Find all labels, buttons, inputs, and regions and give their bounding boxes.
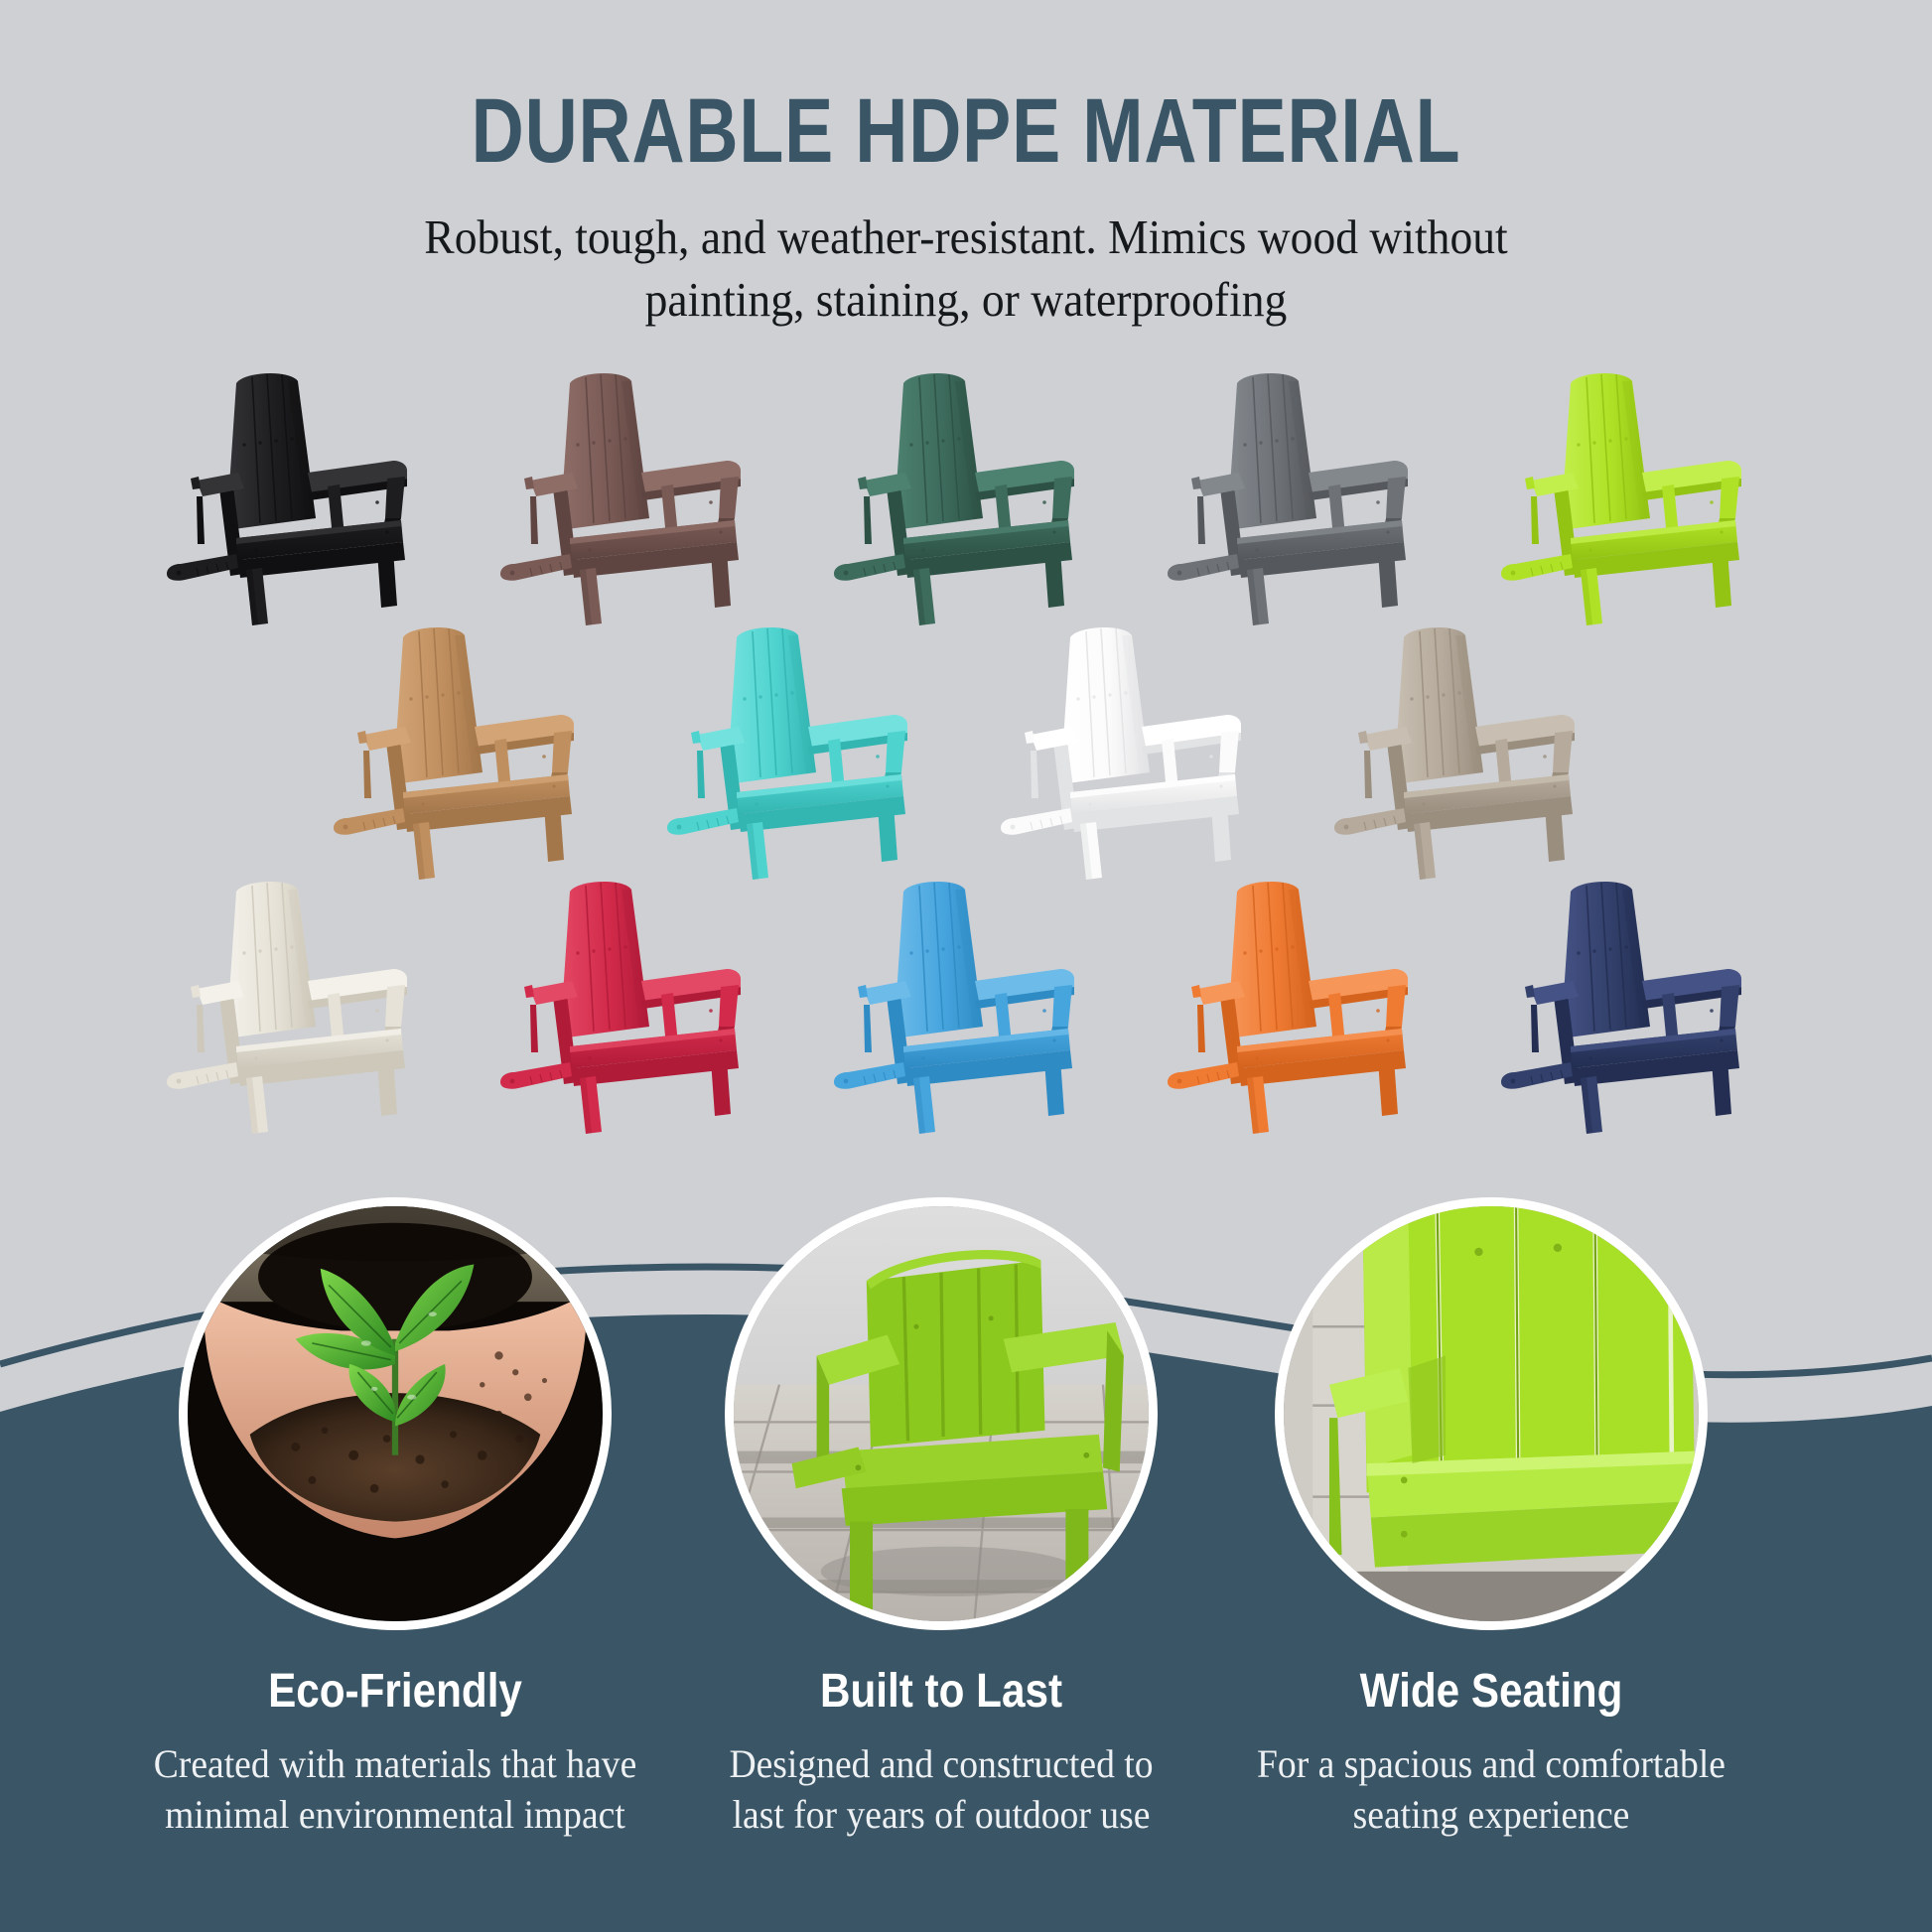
subtitle-line-1: Robust, tough, and weather-resistant. Mi… [320, 207, 1612, 269]
chair-swatch-gray[interactable] [1142, 369, 1457, 629]
chair-front-bracket-black [167, 554, 238, 581]
page-subtitle: Robust, tough, and weather-resistant. Mi… [320, 177, 1612, 331]
chair-swatch-orange[interactable] [1142, 878, 1457, 1138]
chair-front-bracket-navy-blue [1501, 1062, 1573, 1089]
adirondack-chair-white [975, 623, 1291, 884]
chair-arm-right-turquoise [808, 715, 907, 784]
chair-arm-right-teak-tan [475, 715, 574, 784]
chair-swatch-navy-blue[interactable] [1475, 878, 1791, 1138]
adirondack-chair-taupe [1309, 623, 1624, 884]
chair-arm-right-dark-brown [641, 461, 741, 530]
feature-desc-line-2: last for years of outdoor use [680, 1789, 1202, 1840]
chair-back-black [226, 373, 316, 530]
chair-swatch-red[interactable] [475, 878, 790, 1138]
chair-arm-right-white [1142, 715, 1241, 784]
chair-back-teak-tan [393, 627, 483, 784]
chair-back-gray [1227, 373, 1316, 530]
adirondack-chair-orange [1142, 878, 1457, 1138]
page-title: DURABLE HDPE MATERIAL [194, 0, 1739, 177]
feature-desc-line-2: minimal environmental impact [134, 1789, 656, 1840]
chair-front-bracket-taupe [1334, 808, 1406, 835]
chair-front-bracket-gray [1168, 554, 1239, 581]
chair-swatch-lime-green[interactable] [1475, 369, 1791, 629]
chair-back-lime-green [1561, 373, 1650, 530]
feature-image-built-to-last [725, 1197, 1158, 1630]
feature-title-built-to-last: Built to Last [697, 1630, 1186, 1719]
chair-arm-right-light-blue [975, 969, 1074, 1038]
chair-arm-right-orange [1309, 969, 1408, 1038]
chair-back-ivory [226, 882, 316, 1038]
chair-back-taupe [1394, 627, 1483, 784]
feature-wide-seating: Wide Seating For a spacious and comforta… [1213, 1197, 1769, 1840]
feature-desc-wide-seating: For a spacious and comfortable seating e… [1230, 1719, 1752, 1840]
chair-back-red [560, 882, 649, 1038]
chair-back-dark-green [894, 373, 983, 530]
chair-front-bracket-light-blue [834, 1062, 905, 1089]
chair-arm-right-taupe [1475, 715, 1575, 784]
subtitle-line-2: painting, staining, or waterproofing [320, 269, 1612, 332]
feature-desc-line-1: Designed and constructed to [680, 1738, 1202, 1789]
chair-swatch-dark-brown[interactable] [475, 369, 790, 629]
feature-title-eco-friendly: Eco-Friendly [151, 1630, 640, 1719]
chair-swatch-white[interactable] [975, 623, 1291, 884]
lime-chair-on-patio-photo [734, 1206, 1149, 1621]
chair-back-light-blue [894, 882, 983, 1038]
chair-grid-row-2 [0, 623, 1932, 884]
chair-arm-right-ivory [308, 969, 407, 1038]
adirondack-chair-dark-brown [475, 369, 790, 629]
chair-arm-right-dark-green [975, 461, 1074, 530]
adirondack-chair-red [475, 878, 790, 1138]
feature-desc-built-to-last: Designed and constructed to last for yea… [680, 1719, 1202, 1840]
chair-front-bracket-dark-green [834, 554, 905, 581]
chair-back-dark-brown [560, 373, 649, 530]
adirondack-chair-dark-green [808, 369, 1124, 629]
chair-front-bracket-red [500, 1062, 572, 1089]
chair-arm-right-navy-blue [1642, 969, 1741, 1038]
chair-swatch-black[interactable] [141, 369, 457, 629]
feature-desc-line-1: For a spacious and comfortable [1230, 1738, 1752, 1789]
chair-color-grid [0, 369, 1932, 1138]
chair-front-bracket-teak-tan [334, 808, 405, 835]
chair-arm-right-red [641, 969, 741, 1038]
adirondack-chair-gray [1142, 369, 1457, 629]
feature-built-to-last: Built to Last Designed and constructed t… [663, 1197, 1219, 1840]
feature-section: Eco-Friendly Created with materials that… [0, 1197, 1932, 1932]
chair-swatch-dark-green[interactable] [808, 369, 1124, 629]
chair-front-bracket-white [1001, 808, 1072, 835]
adirondack-chair-teak-tan [308, 623, 623, 884]
adirondack-chair-turquoise [641, 623, 957, 884]
feature-desc-eco-friendly: Created with materials that have minimal… [134, 1719, 656, 1840]
infographic-canvas: DURABLE HDPE MATERIAL Robust, tough, and… [0, 0, 1932, 1932]
feature-title-wide-seating: Wide Seating [1247, 1630, 1736, 1719]
header: DURABLE HDPE MATERIAL Robust, tough, and… [0, 0, 1932, 331]
chair-swatch-turquoise[interactable] [641, 623, 957, 884]
chair-front-bracket-dark-brown [500, 554, 572, 581]
chair-front-bracket-lime-green [1501, 554, 1573, 581]
chair-arm-right-lime-green [1642, 461, 1741, 530]
feature-eco-friendly: Eco-Friendly Created with materials that… [117, 1197, 673, 1840]
chair-swatch-ivory[interactable] [141, 878, 457, 1138]
hands-soil-seedling-illustration [188, 1206, 603, 1621]
chair-grid-row-1 [0, 369, 1932, 629]
chair-front-bracket-turquoise [667, 808, 739, 835]
chair-back-navy-blue [1561, 882, 1650, 1038]
adirondack-chair-ivory [141, 878, 457, 1138]
feature-image-eco-friendly [179, 1197, 612, 1630]
feature-desc-line-2: seating experience [1230, 1789, 1752, 1840]
feature-image-wide-seating [1275, 1197, 1708, 1630]
lime-chair-wide-seat-closeup [1284, 1206, 1699, 1621]
adirondack-chair-light-blue [808, 878, 1124, 1138]
chair-grid-row-3 [0, 878, 1932, 1138]
chair-front-bracket-ivory [167, 1062, 238, 1089]
chair-front-bracket-orange [1168, 1062, 1239, 1089]
chair-swatch-teak-tan[interactable] [308, 623, 623, 884]
adirondack-chair-lime-green [1475, 369, 1791, 629]
chair-arm-right-black [308, 461, 407, 530]
chair-back-orange [1227, 882, 1316, 1038]
chair-back-turquoise [727, 627, 816, 784]
chair-arm-right-gray [1309, 461, 1408, 530]
adirondack-chair-navy-blue [1475, 878, 1791, 1138]
chair-swatch-light-blue[interactable] [808, 878, 1124, 1138]
chair-swatch-taupe[interactable] [1309, 623, 1624, 884]
adirondack-chair-black [141, 369, 457, 629]
chair-back-white [1060, 627, 1150, 784]
feature-desc-line-1: Created with materials that have [134, 1738, 656, 1789]
